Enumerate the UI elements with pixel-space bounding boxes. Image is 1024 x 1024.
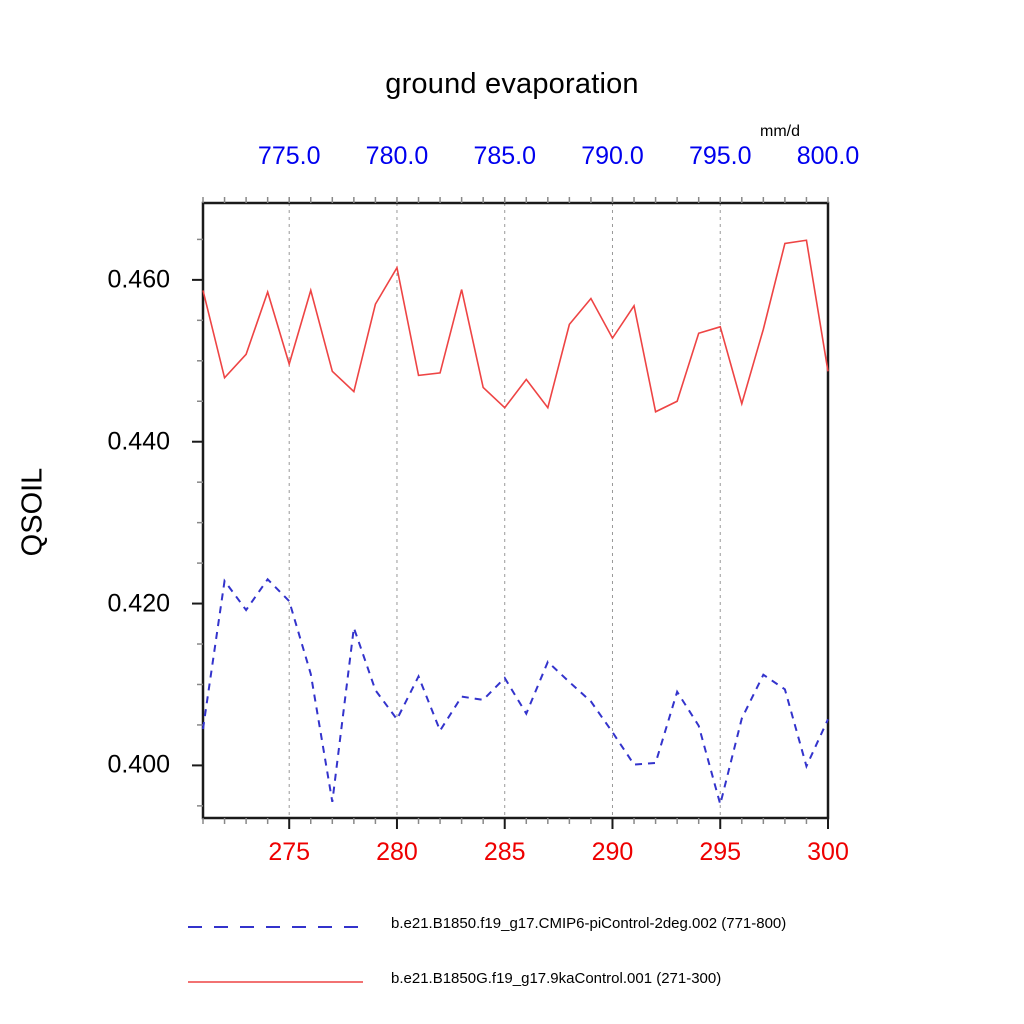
bottom-axis-tick-label: 295 <box>699 838 741 867</box>
top-axis-tick-label: 800.0 <box>797 142 860 171</box>
legend-item-0: b.e21.B1850.f19_g17.CMIP6-piControl-2deg… <box>188 908 786 938</box>
legend-sample-dashed <box>188 922 363 924</box>
bottom-axis-tick-label: 285 <box>484 838 526 867</box>
y-axis-tick-label: 0.460 <box>65 265 170 294</box>
bottom-axis-tick-label: 275 <box>268 838 310 867</box>
top-axis-tick-label: 775.0 <box>258 142 321 171</box>
y-axis-tick-label: 0.400 <box>65 751 170 780</box>
top-axis-tick-label: 785.0 <box>473 142 536 171</box>
top-axis-tick-label: 780.0 <box>366 142 429 171</box>
bottom-axis-tick-label: 280 <box>376 838 418 867</box>
y-axis-title: QSOIL <box>17 468 50 557</box>
legend-sample-solid <box>188 977 363 979</box>
legend-label-1: b.e21.B1850G.f19_g17.9kaControl.001 (271… <box>391 970 721 987</box>
top-axis-tick-label: 795.0 <box>689 142 752 171</box>
plot-frame <box>203 203 828 818</box>
y-axis-tick-label: 0.440 <box>65 427 170 456</box>
legend-item-1: b.e21.B1850G.f19_g17.9kaControl.001 (271… <box>188 963 721 993</box>
series-line-1 <box>203 240 828 412</box>
unit-label: mm/d <box>760 123 800 141</box>
legend-label-0: b.e21.B1850.f19_g17.CMIP6-piControl-2deg… <box>391 915 786 932</box>
bottom-axis-tick-label: 290 <box>592 838 634 867</box>
series-line-0 <box>203 579 828 804</box>
top-axis-tick-label: 790.0 <box>581 142 644 171</box>
page-title: ground evaporation <box>0 68 1024 101</box>
bottom-axis-tick-label: 300 <box>807 838 849 867</box>
y-axis-tick-label: 0.420 <box>65 589 170 618</box>
chart-figure: ground evaporation mm/d QSOIL 775.0780.0… <box>0 0 1024 1024</box>
